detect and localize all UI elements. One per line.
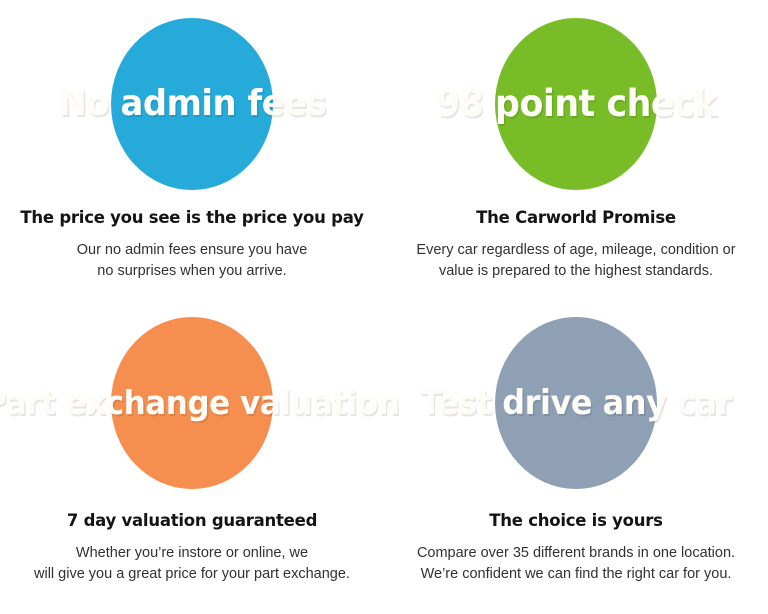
badge-no-admin-fees: No admin fees (111, 18, 273, 190)
usp-heading: The Carworld Promise (476, 208, 676, 227)
usp-body-text: Compare over 35 different brands in one … (417, 543, 735, 585)
badge-label: Test drive any car (420, 387, 732, 419)
badge-label: Part exchange valuation (0, 387, 400, 418)
usp-heading: The choice is yours (489, 511, 662, 530)
badge-test-drive-any-car: Test drive any car (495, 317, 657, 489)
usp-body-text: Every car regardless of age, mileage, co… (416, 240, 735, 282)
usp-feature-grid: No admin fees The price you see is the p… (0, 0, 768, 614)
usp-card-part-exchange-valuation[interactable]: Part exchange valuation 7 day valuation … (0, 307, 384, 614)
usp-card-test-drive-any-car[interactable]: Test drive any car The choice is yours C… (384, 307, 768, 614)
usp-card-no-admin-fees[interactable]: No admin fees The price you see is the p… (0, 0, 384, 307)
usp-heading: 7 day valuation guaranteed (67, 511, 317, 530)
usp-heading: The price you see is the price you pay (20, 208, 363, 227)
badge-label: 98 point check (436, 86, 717, 121)
badge-part-exchange-valuation: Part exchange valuation (111, 317, 273, 489)
badge-98-point-check: 98 point check (495, 18, 657, 190)
usp-card-98-point-check[interactable]: 98 point check The Carworld Promise Ever… (384, 0, 768, 307)
usp-body-text: Whether you’re instore or online, we wil… (34, 543, 350, 585)
usp-body-text: Our no admin fees ensure you have no sur… (77, 240, 308, 282)
badge-label: No admin fees (58, 87, 326, 121)
